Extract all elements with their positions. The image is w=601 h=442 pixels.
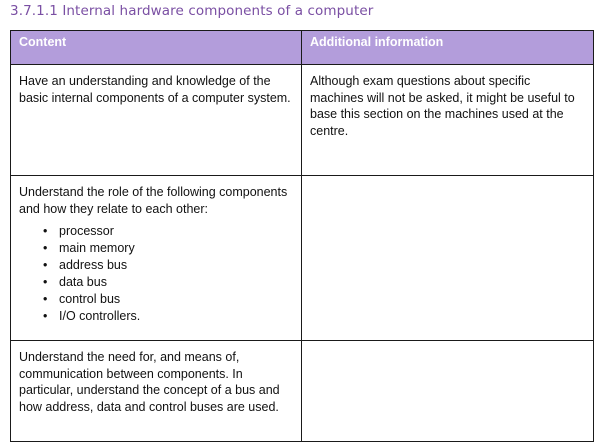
list-item-label: address bus (59, 258, 127, 272)
document-page: 3.7.1.1 Internal hardware components of … (0, 0, 601, 411)
component-list: • processor • main memory • address bus (19, 223, 292, 325)
bullet-icon: • (43, 274, 47, 291)
bullet-icon: • (43, 223, 47, 240)
cell-content: Have an understanding and knowledge of t… (11, 65, 302, 176)
cell-additional-information (302, 176, 594, 341)
list-item-label: main memory (59, 241, 135, 255)
cell-body (302, 341, 593, 359)
cell-additional-information: Although exam questions about specific m… (302, 65, 594, 176)
additional-information-text: Although exam questions about specific m… (310, 73, 584, 139)
page-title: 3.7.1.1 Internal hardware components of … (10, 2, 373, 20)
cell-body: Have an understanding and knowledge of t… (11, 65, 301, 175)
list-item-label: data bus (59, 275, 107, 289)
list-item-label: processor (59, 224, 114, 238)
list-item: • data bus (19, 274, 292, 291)
table-row: Understand the role of the following com… (11, 176, 594, 341)
cell-body (302, 176, 593, 194)
column-header-content: Content (11, 31, 302, 65)
bullet-icon: • (43, 240, 47, 257)
column-header-additional-information: Additional information (302, 31, 594, 65)
list-item-label: control bus (59, 292, 120, 306)
table-header: Content Additional information (11, 31, 594, 65)
bullet-icon: • (43, 291, 47, 308)
table-header-row: Content Additional information (11, 31, 594, 65)
table-row: Have an understanding and knowledge of t… (11, 65, 594, 176)
bullet-icon: • (43, 308, 47, 325)
list-item: • address bus (19, 257, 292, 274)
cell-additional-information (302, 341, 594, 442)
cell-content: Understand the role of the following com… (11, 176, 302, 341)
cell-body: Although exam questions about specific m… (302, 65, 593, 175)
list-item: • control bus (19, 291, 292, 308)
bullet-icon: • (43, 257, 47, 274)
specification-table: Content Additional information Have an u… (10, 30, 594, 442)
list-item: • main memory (19, 240, 292, 257)
list-item: • processor (19, 223, 292, 240)
content-text: Have an understanding and knowledge of t… (19, 73, 292, 106)
content-text: Understand the need for, and means of, c… (19, 349, 292, 415)
table-row: Understand the need for, and means of, c… (11, 341, 594, 442)
cell-body: Understand the role of the following com… (11, 176, 301, 340)
table-body: Have an understanding and knowledge of t… (11, 65, 594, 442)
cell-content: Understand the need for, and means of, c… (11, 341, 302, 442)
content-text: Understand the role of the following com… (19, 184, 292, 217)
cell-body: Understand the need for, and means of, c… (11, 341, 301, 441)
list-item-label: I/O controllers. (59, 309, 140, 323)
list-item: • I/O controllers. (19, 308, 292, 325)
